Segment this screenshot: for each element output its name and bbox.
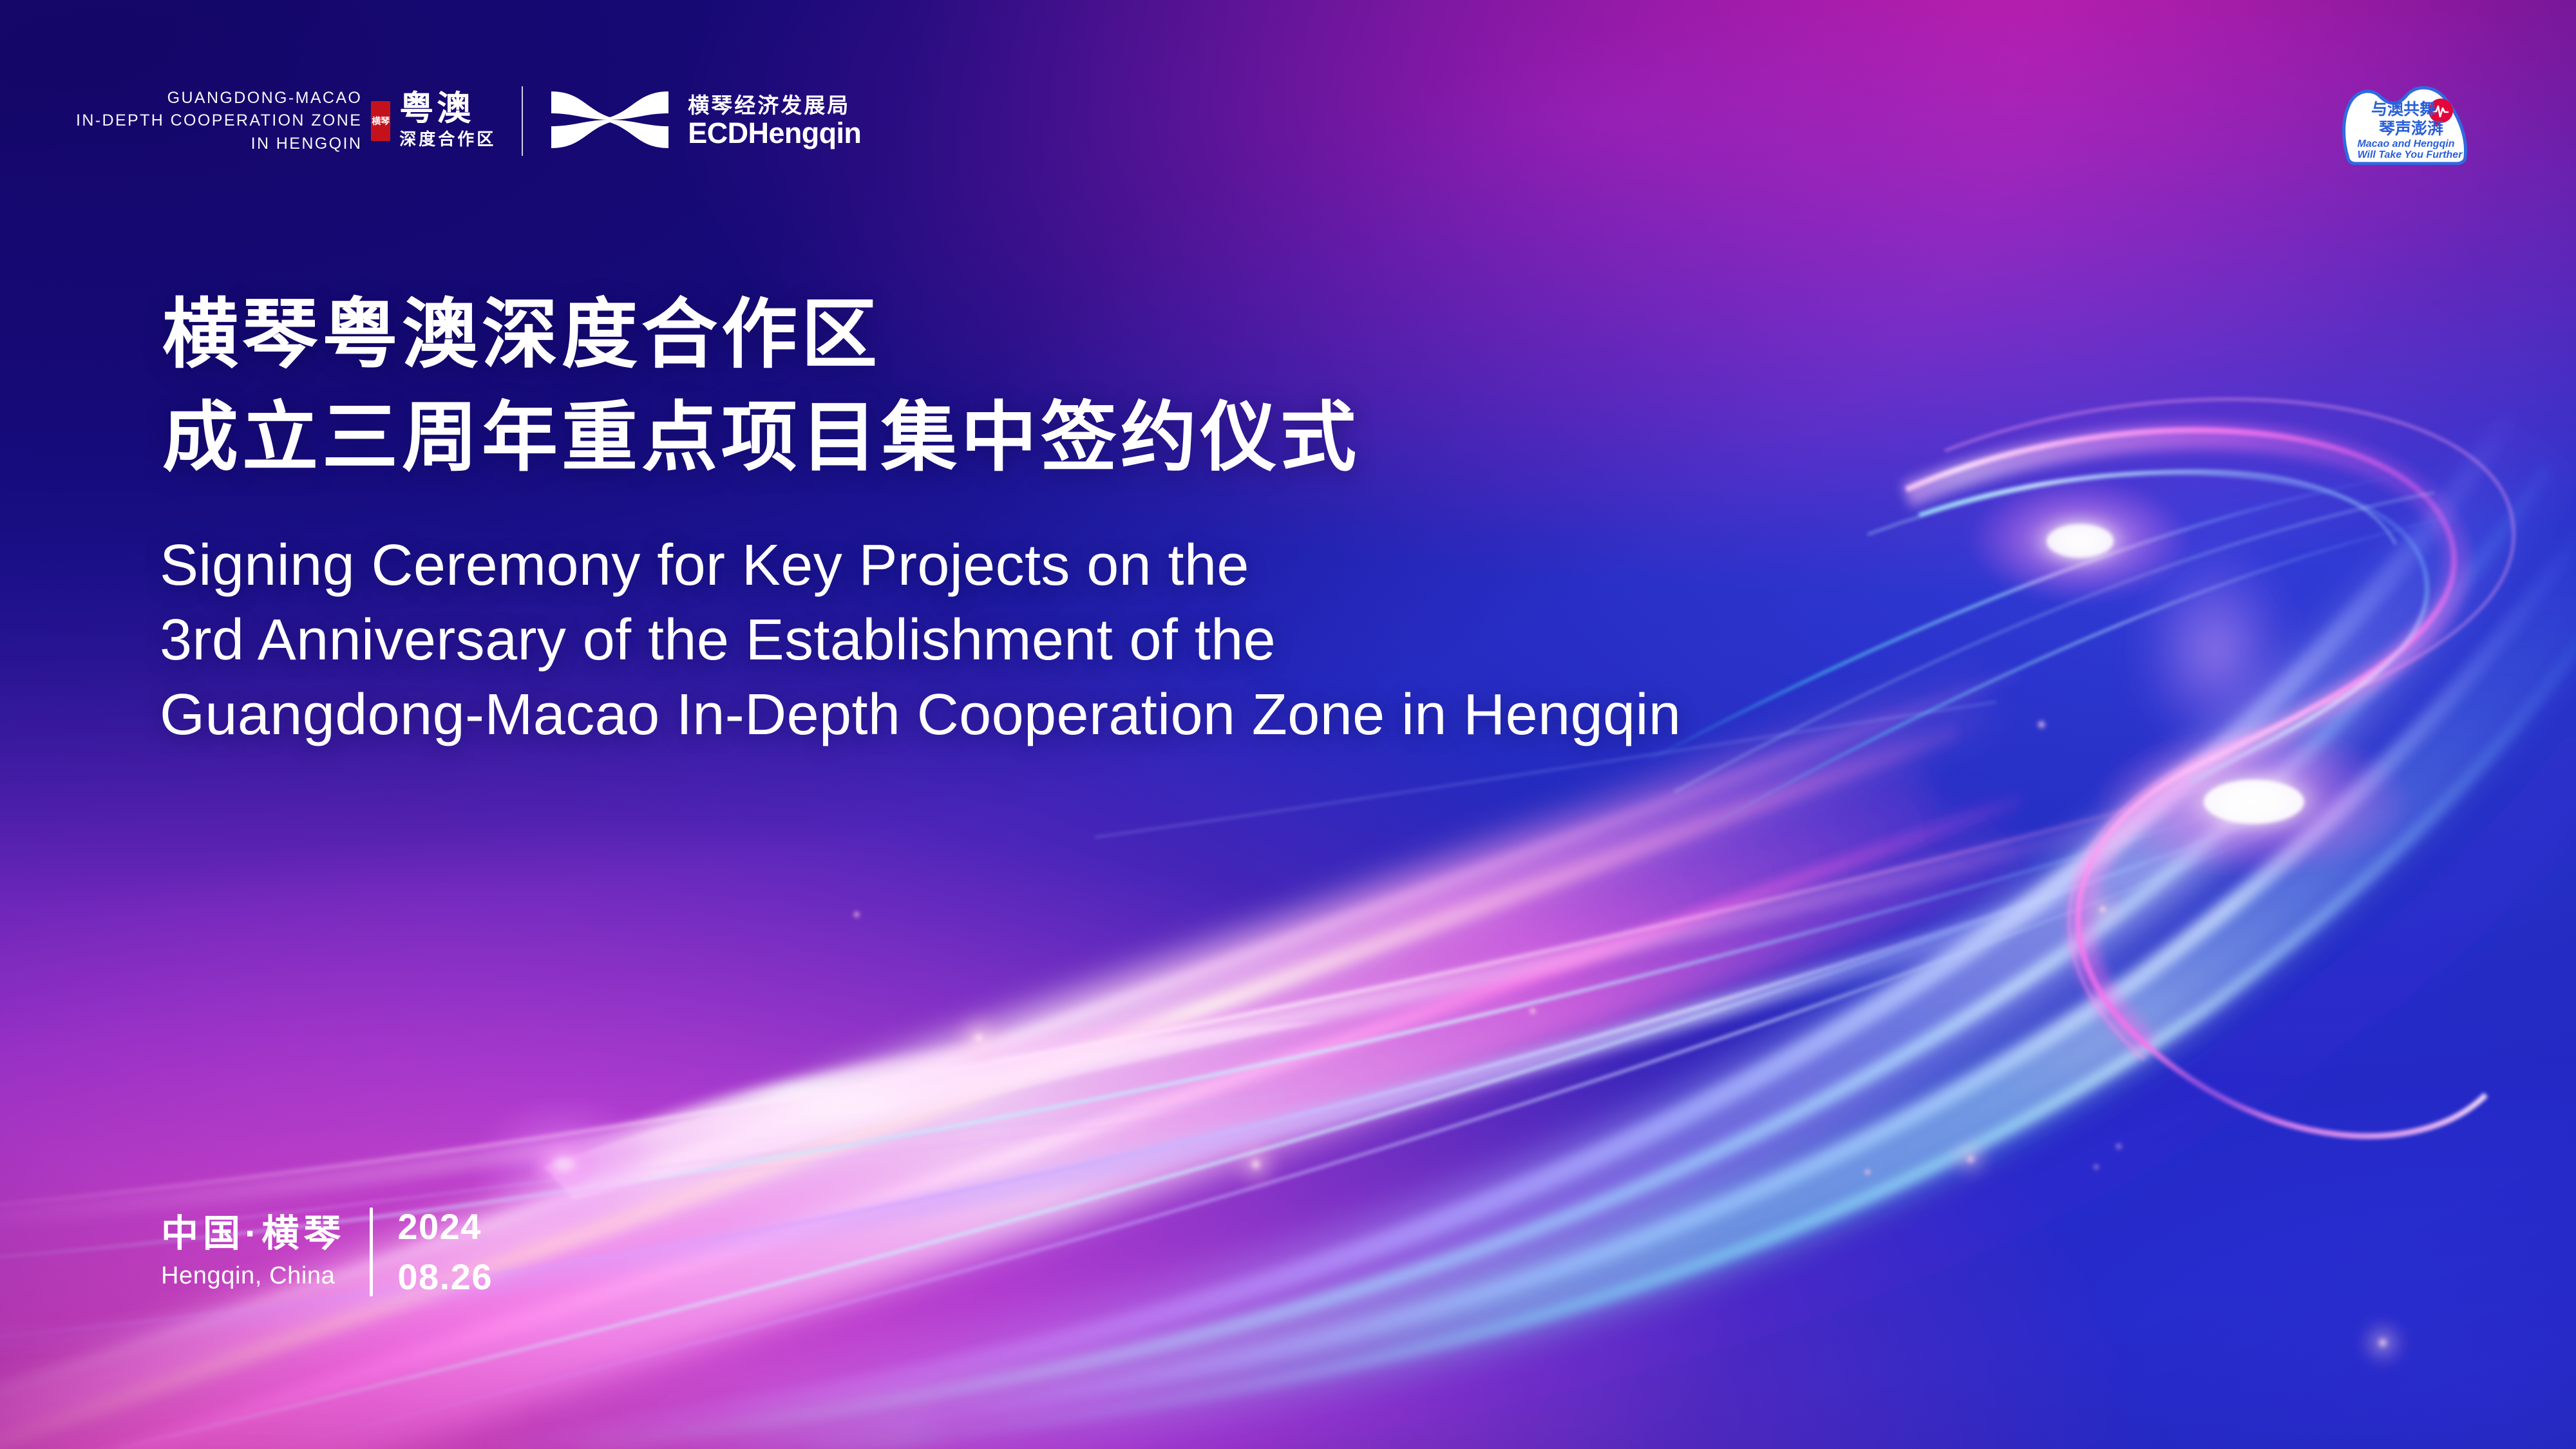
- zone-logo-cn-sub: 深度合作区: [399, 128, 496, 151]
- badge-cn-line-2: 琴声澎湃: [2379, 120, 2443, 138]
- footer-location-date: 中国·横琴 Hengqin, China 2024 08.26: [161, 1206, 493, 1298]
- footer-location: 中国·横琴 Hengqin, China: [161, 1212, 345, 1293]
- event-year: 2024: [397, 1206, 493, 1248]
- main-title-en-line-3: Guangdong-Macao In-Depth Cooperation Zon…: [160, 677, 1681, 752]
- hengqin-seal-icon: 横琴: [371, 101, 390, 141]
- event-date: 08.26: [397, 1256, 493, 1298]
- ecd-hengqin-logo: 横琴经济发展局 ECDHengqin: [549, 88, 861, 155]
- badge-cn-line-1: 与澳共舞: [2371, 100, 2436, 118]
- badge-en-line-2: Will Take You Further: [2358, 149, 2463, 160]
- ecd-logo-chinese: 横琴经济发展局: [688, 94, 861, 118]
- campaign-badge: 与澳共舞 琴声澎湃 Macao and Hengqin Will Take Yo…: [2339, 82, 2474, 165]
- main-title-cn-line-1: 横琴粤澳深度合作区: [162, 283, 1360, 386]
- header-logo-bar: GUANGDONG-MACAO IN-DEPTH COOPERATION ZON…: [76, 82, 861, 160]
- main-title-english: Signing Ceremony for Key Projects on the…: [160, 528, 1681, 752]
- zone-logo-cn-main: 粤澳: [399, 91, 496, 126]
- zone-logo-line-3: IN HENGQIN: [76, 133, 362, 156]
- footer-date: 2024 08.26: [397, 1206, 493, 1298]
- zone-logo-chinese: 粤澳 深度合作区: [399, 91, 496, 151]
- cooperation-zone-logo: GUANGDONG-MACAO IN-DEPTH COOPERATION ZON…: [76, 87, 496, 156]
- ecd-logo-text: 横琴经济发展局 ECDHengqin: [688, 94, 861, 148]
- footer-divider: [370, 1207, 373, 1296]
- main-title-en-line-1: Signing Ceremony for Key Projects on the: [160, 528, 1681, 603]
- location-english: Hengqin, China: [161, 1260, 345, 1292]
- main-title-en-line-2: 3rd Anniversary of the Establishment of …: [160, 603, 1681, 677]
- zone-logo-line-1: GUANGDONG-MACAO: [76, 87, 362, 110]
- header-divider: [522, 86, 523, 156]
- location-chinese: 中国·横琴: [161, 1212, 345, 1255]
- main-title-chinese: 横琴粤澳深度合作区 成立三周年重点项目集中签约仪式: [162, 283, 1360, 490]
- badge-en-line-1: Macao and Hengqin: [2357, 138, 2454, 149]
- ecd-logo-english: ECDHengqin: [688, 118, 861, 148]
- hourglass-mark-icon: [549, 88, 671, 155]
- main-title-cn-line-2: 成立三周年重点项目集中签约仪式: [162, 386, 1360, 489]
- zone-logo-english: GUANGDONG-MACAO IN-DEPTH COOPERATION ZON…: [76, 87, 362, 156]
- zone-logo-line-2: IN-DEPTH COOPERATION ZONE: [76, 109, 362, 133]
- event-poster: GUANGDONG-MACAO IN-DEPTH COOPERATION ZON…: [0, 0, 2576, 1449]
